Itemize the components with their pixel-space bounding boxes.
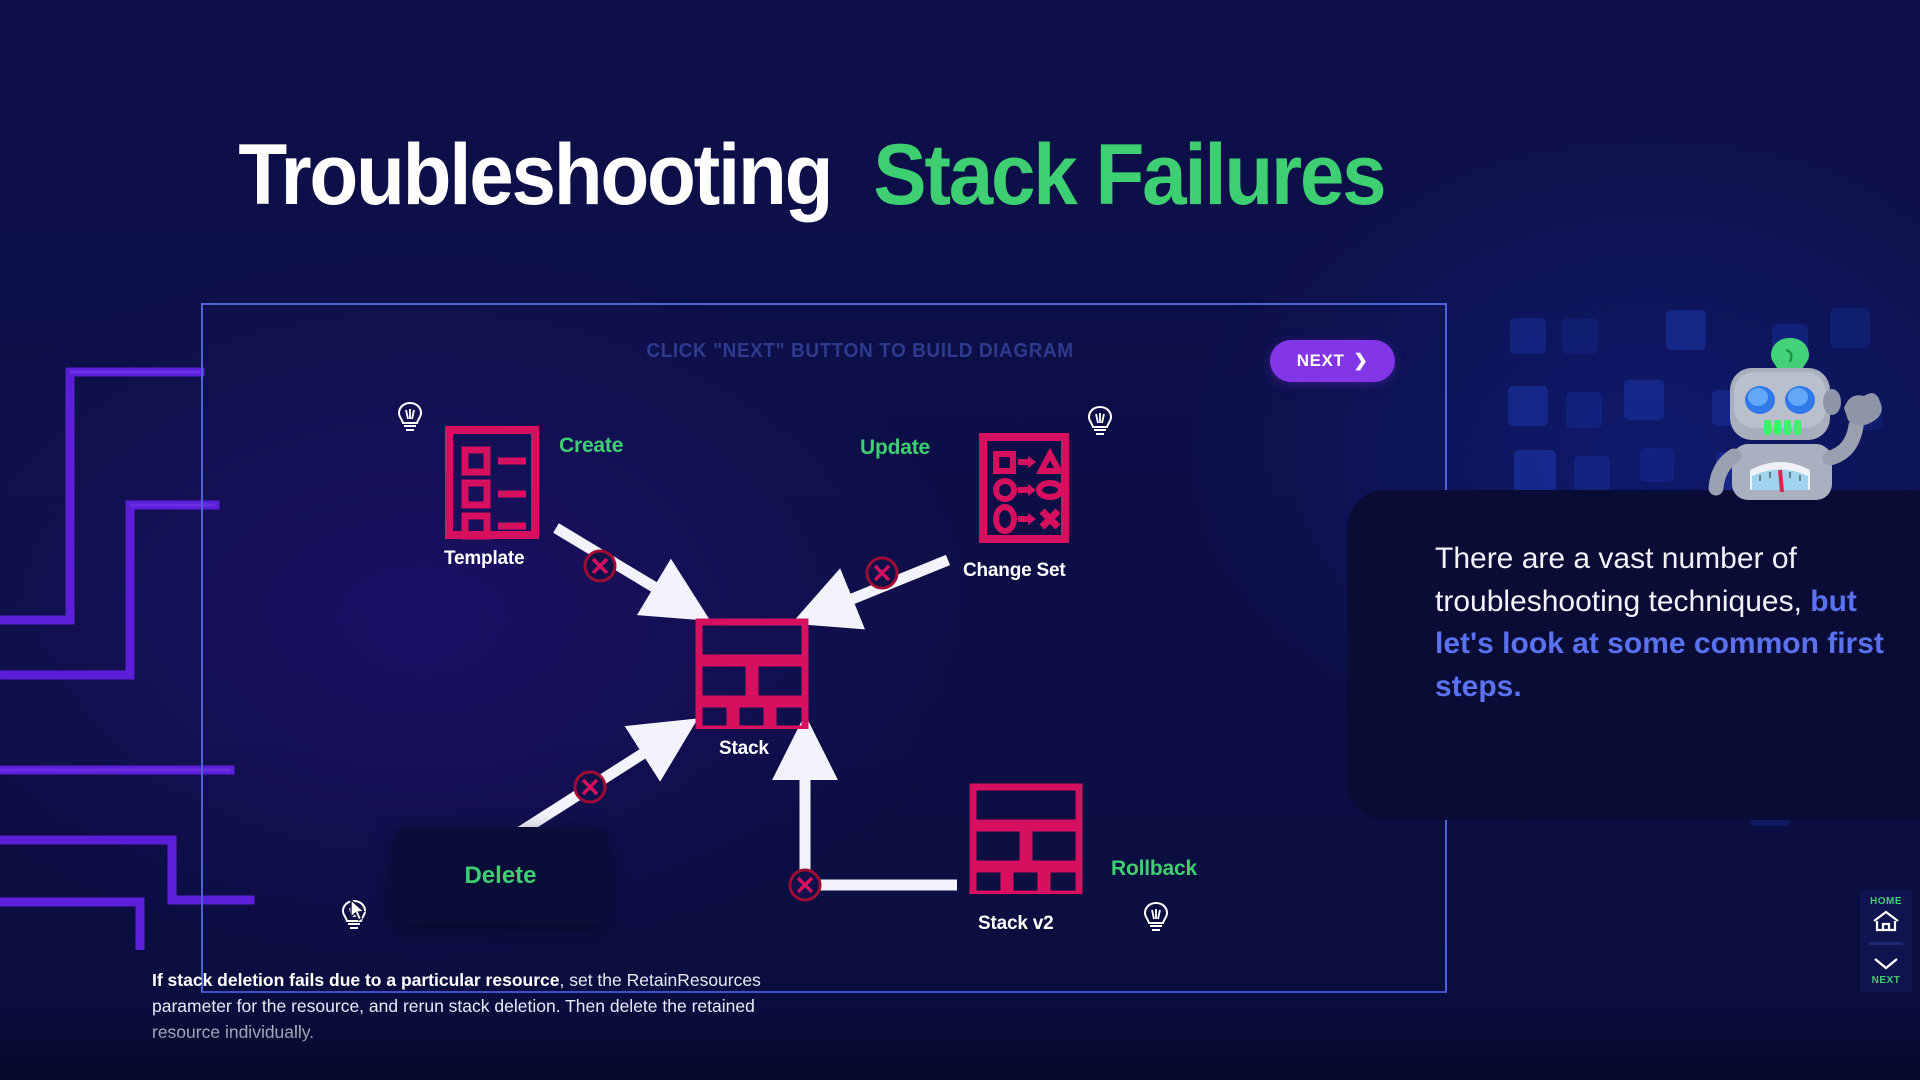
lightbulb-icon[interactable] [395, 400, 425, 438]
robot-assistant-avatar [1672, 330, 1892, 500]
chevron-right-icon: ❯ [1353, 351, 1368, 371]
node-label-change-set: Change Set [963, 560, 1066, 582]
blocked-marker-icon [864, 555, 900, 591]
lightbulb-icon[interactable] [1141, 900, 1171, 938]
lightbulb-icon[interactable] [1085, 404, 1115, 442]
page-title-accent: Stack Failures [873, 132, 1384, 218]
next-nav-label: NEXT [1872, 975, 1901, 986]
stack-icon [694, 617, 810, 729]
edge-label-create: Create [559, 434, 623, 458]
change-set-icon [978, 432, 1070, 544]
home-button-label: HOME [1870, 896, 1902, 907]
nav-divider [1869, 942, 1903, 945]
chevron-down-icon[interactable] [1871, 955, 1901, 971]
page-title-main: Troubleshooting [239, 132, 832, 218]
next-button-label: NEXT [1297, 351, 1345, 371]
page-title: Troubleshooting Stack Failures [0, 132, 1620, 218]
edge-label-update: Update [860, 436, 930, 460]
mouse-cursor-icon [348, 898, 370, 924]
blocked-marker-icon [572, 769, 608, 805]
template-icon [444, 425, 540, 540]
edge-label-delete: Delete [464, 862, 536, 890]
corner-nav: HOME NEXT [1860, 890, 1912, 992]
delete-callout: Delete [393, 827, 608, 924]
caption-bold: If stack deletion fails due to a particu… [152, 970, 560, 990]
speech-plain: There are a vast number of troubleshooti… [1435, 542, 1810, 618]
diagram-hint-text: CLICK "NEXT" BUTTON TO BUILD DIAGRAM [613, 340, 1107, 363]
next-button[interactable]: NEXT ❯ [1270, 340, 1395, 382]
edge-label-rollback: Rollback [1111, 857, 1197, 881]
blocked-marker-icon [787, 867, 823, 903]
blocked-marker-icon [582, 548, 618, 584]
node-label-stack: Stack [719, 738, 769, 760]
stack-v2-icon [968, 782, 1084, 894]
home-icon[interactable] [1871, 909, 1901, 933]
diagram-frame [201, 303, 1447, 993]
caption-text: If stack deletion fails due to a particu… [152, 968, 772, 1046]
node-label-template: Template [444, 548, 524, 570]
node-label-stack-v2: Stack v2 [978, 913, 1054, 935]
speech-bubble: There are a vast number of troubleshooti… [1347, 490, 1920, 820]
